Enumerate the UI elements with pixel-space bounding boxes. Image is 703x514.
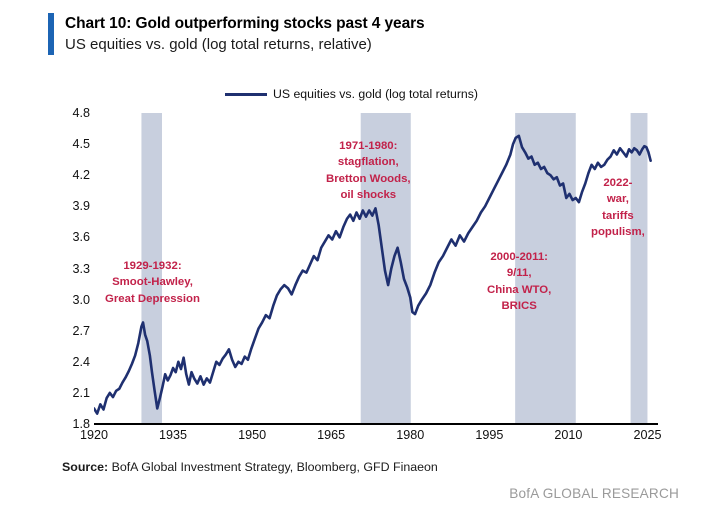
y-tick-label-4.5: 4.5 [72, 137, 90, 151]
y-tick-label-2.7: 2.7 [72, 324, 90, 338]
chart-legend: US equities vs. gold (log total returns) [0, 87, 703, 101]
y-tick-label-2.4: 2.4 [72, 355, 90, 369]
y-tick-label-4.8: 4.8 [72, 106, 90, 120]
x-tick-label-1965: 1965 [317, 428, 345, 442]
shaded-band-2022 [631, 113, 648, 424]
x-axis-labels: 19201935195019651980199520102025 [94, 428, 658, 448]
source-text: BofA Global Investment Strategy, Bloombe… [108, 460, 438, 474]
title-accent-bar [48, 13, 54, 55]
annotation-line: Smoot-Hawley, [105, 274, 200, 290]
source-label: Source: [62, 460, 108, 474]
annotation-line: Great Depression [105, 291, 200, 307]
annotation-line: war, [591, 191, 645, 207]
y-tick-label-3.0: 3.0 [72, 293, 90, 307]
annotation-line: tariffs [591, 208, 645, 224]
y-tick-label-4.2: 4.2 [72, 168, 90, 182]
legend-swatch-us-equities-vs-gold [225, 93, 267, 96]
annotation-1929-1932: 1929-1932:Smoot-Hawley,Great Depression [105, 258, 200, 307]
x-axis-line [94, 423, 658, 425]
annotation-line: stagflation, [326, 154, 411, 170]
source-note: Source: BofA Global Investment Strategy,… [62, 460, 438, 474]
chart-header: Chart 10: Gold outperforming stocks past… [48, 13, 425, 55]
watermark: BofA GLOBAL RESEARCH [509, 486, 679, 501]
x-tick-label-1995: 1995 [475, 428, 503, 442]
annotation-1971-1980: 1971-1980:stagflation,Bretton Woods,oil … [326, 138, 411, 204]
annotation-2022: 2022-war,tariffspopulism, [591, 175, 645, 241]
y-tick-label-3.9: 3.9 [72, 199, 90, 213]
x-tick-label-1920: 1920 [80, 428, 108, 442]
x-tick-label-1980: 1980 [396, 428, 424, 442]
annotation-line: 2022- [591, 175, 645, 191]
annotation-line: oil shocks [326, 187, 411, 203]
x-tick-label-1935: 1935 [159, 428, 187, 442]
y-axis-labels: 1.82.12.42.73.03.33.63.94.24.54.8 [58, 113, 90, 424]
annotation-line: 9/11, [487, 265, 551, 281]
y-tick-label-3.3: 3.3 [72, 262, 90, 276]
page-subtitle: US equities vs. gold (log total returns,… [65, 34, 425, 55]
x-tick-label-2025: 2025 [633, 428, 661, 442]
annotation-line: 1929-1932: [105, 258, 200, 274]
annotation-line: 1971-1980: [326, 138, 411, 154]
y-tick-label-2.1: 2.1 [72, 386, 90, 400]
legend-label-us-equities-vs-gold: US equities vs. gold (log total returns) [273, 87, 478, 101]
title-block: Chart 10: Gold outperforming stocks past… [65, 13, 425, 55]
annotation-2000-2011: 2000-2011:9/11,China WTO,BRICS [487, 249, 551, 315]
annotation-line: BRICS [487, 298, 551, 314]
y-tick-label-3.6: 3.6 [72, 230, 90, 244]
annotation-line: China WTO, [487, 282, 551, 298]
annotation-line: 2000-2011: [487, 249, 551, 265]
annotation-line: populism, [591, 224, 645, 240]
page-title: Chart 10: Gold outperforming stocks past… [65, 14, 425, 34]
x-tick-label-1950: 1950 [238, 428, 266, 442]
annotation-line: Bretton Woods, [326, 171, 411, 187]
x-tick-label-2010: 2010 [554, 428, 582, 442]
